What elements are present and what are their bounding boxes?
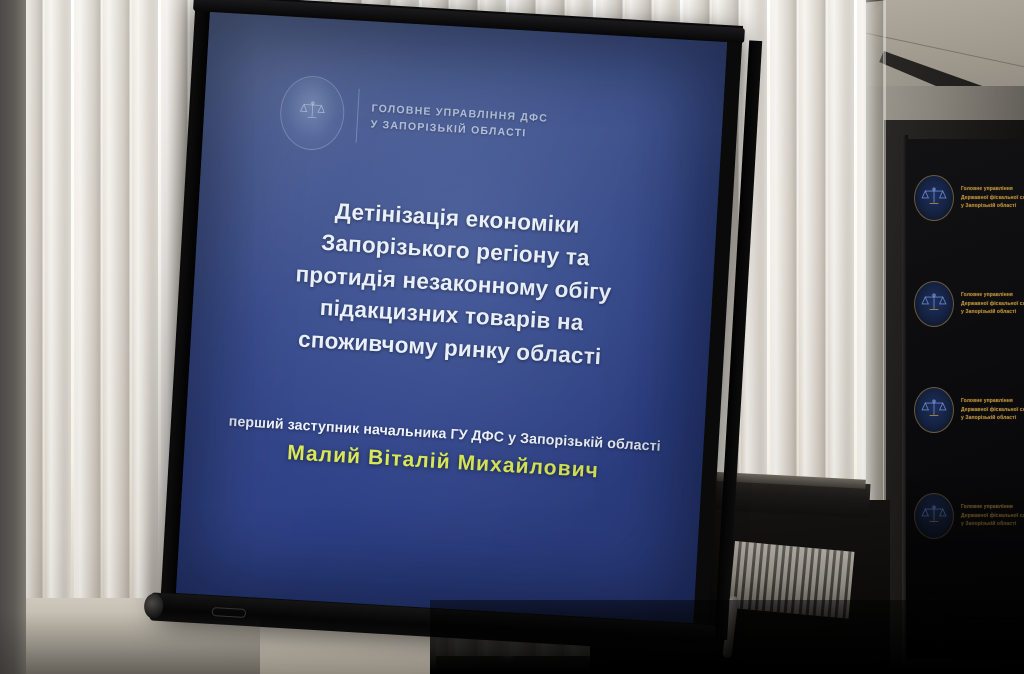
banner-text-line-1: Головне управління — [961, 397, 1024, 406]
banner-text-line-2: Державної фіскальної служби — [961, 406, 1024, 415]
scales-of-justice-icon — [278, 74, 346, 152]
projection-screen: ГОЛОВНЕ УПРАВЛІННЯ ДФС У ЗАПОРІЗЬКІЙ ОБЛ… — [159, 0, 765, 666]
slide-header-text: ГОЛОВНЕ УПРАВЛІННЯ ДФС У ЗАПОРІЗЬКІЙ ОБЛ… — [370, 100, 548, 143]
roll-up-banner: Головне управлінняДержавної фіскальної с… — [906, 139, 1024, 659]
banner-text-line-3: у Запорізькій області — [961, 308, 1024, 317]
scales-glyph — [299, 99, 326, 120]
left-wall-edge — [0, 0, 26, 674]
projected-slide: ГОЛОВНЕ УПРАВЛІННЯ ДФС У ЗАПОРІЗЬКІЙ ОБЛ… — [176, 12, 727, 623]
scales-of-justice-icon — [914, 175, 954, 221]
blind-slat — [45, 0, 72, 656]
scales-of-justice-icon — [914, 387, 954, 433]
banner-text: Головне управлінняДержавної фіскальної с… — [961, 397, 1024, 423]
banner-text-line-3: у Запорізькій області — [961, 202, 1024, 211]
banner-text-line-1: Головне управління — [961, 185, 1024, 194]
scene-root: Головне управлінняДержавної фіскальної с… — [0, 0, 1024, 674]
banner-text-line-3: у Запорізькій області — [961, 414, 1024, 423]
bottom-left-shadow — [0, 612, 260, 674]
banner-logo-block: Головне управлінняДержавної фіскальної с… — [914, 281, 1024, 327]
banner-text-line-2: Державної фіскальної служби — [961, 300, 1024, 309]
floor-shadow — [430, 600, 1024, 674]
blind-slat — [74, 0, 101, 656]
blind-slat — [103, 0, 130, 656]
banner-text: Головне управлінняДержавної фіскальної с… — [961, 185, 1024, 211]
banner-text: Головне управлінняДержавної фіскальної с… — [961, 291, 1024, 317]
banner-logo-block: Головне управлінняДержавної фіскальної с… — [914, 175, 1024, 221]
slide-header: ГОЛОВНЕ УПРАВЛІННЯ ДФС У ЗАПОРІЗЬКІЙ ОБЛ… — [278, 74, 550, 164]
banner-text-line-1: Головне управління — [961, 291, 1024, 300]
banner-logo-block: Головне управлінняДержавної фіскальної с… — [914, 387, 1024, 433]
scales-of-justice-icon — [914, 281, 954, 327]
header-divider — [356, 89, 360, 143]
banner-text-line-2: Державної фіскальної служби — [961, 194, 1024, 203]
blind-slat — [132, 0, 159, 656]
slide-title: Детінізація економікиЗапорізького регіон… — [190, 188, 717, 380]
